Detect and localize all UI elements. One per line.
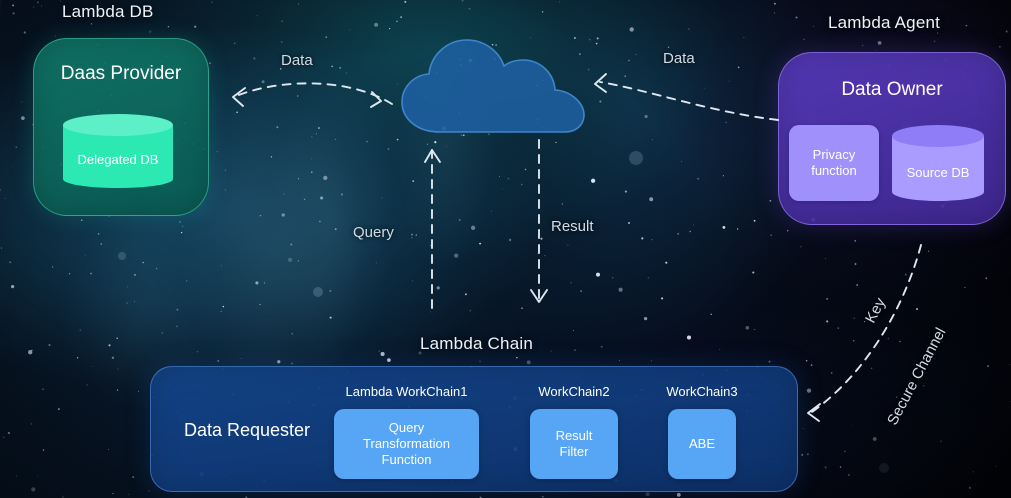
- data-owner-title: Data Owner: [779, 79, 1005, 101]
- flow-label-result: Result: [551, 218, 594, 235]
- flow-label-data-right: Data: [663, 50, 695, 67]
- source-db-cylinder[interactable]: Source DB: [892, 125, 984, 201]
- workchain2-label: WorkChain2: [528, 384, 620, 399]
- diagram-canvas: Lambda DB Lambda Agent Lambda Chain Daas…: [0, 0, 1011, 498]
- result-filter-label: Result Filter: [556, 428, 593, 460]
- result-filter-box[interactable]: Result Filter: [530, 409, 618, 479]
- flow-label-data-left: Data: [281, 52, 313, 69]
- delegated-db-label: Delegated DB: [63, 152, 173, 167]
- query-transformation-function-box[interactable]: Query Transformation Function: [334, 409, 479, 479]
- group-label-lambda-agent: Lambda Agent: [828, 13, 940, 33]
- privacy-function-box[interactable]: Privacy function: [789, 125, 879, 201]
- daas-provider-title: Daas Provider: [34, 63, 208, 85]
- flow-label-query: Query: [353, 224, 394, 241]
- cloud-icon[interactable]: [398, 36, 590, 134]
- abe-label: ABE: [689, 436, 715, 452]
- group-label-lambda-db: Lambda DB: [62, 2, 154, 22]
- source-db-label: Source DB: [892, 165, 984, 180]
- group-label-lambda-chain: Lambda Chain: [420, 334, 533, 354]
- cylinder-top: [892, 125, 984, 147]
- data-requester-label: Data Requester: [166, 420, 328, 441]
- query-transformation-function-label: Query Transformation Function: [363, 420, 450, 468]
- privacy-function-label: Privacy function: [811, 147, 857, 179]
- abe-box[interactable]: ABE: [668, 409, 736, 479]
- workchain1-label: Lambda WorkChain1: [334, 384, 479, 399]
- delegated-db-cylinder[interactable]: Delegated DB: [63, 114, 173, 188]
- workchain3-label: WorkChain3: [655, 384, 749, 399]
- cylinder-top: [63, 114, 173, 136]
